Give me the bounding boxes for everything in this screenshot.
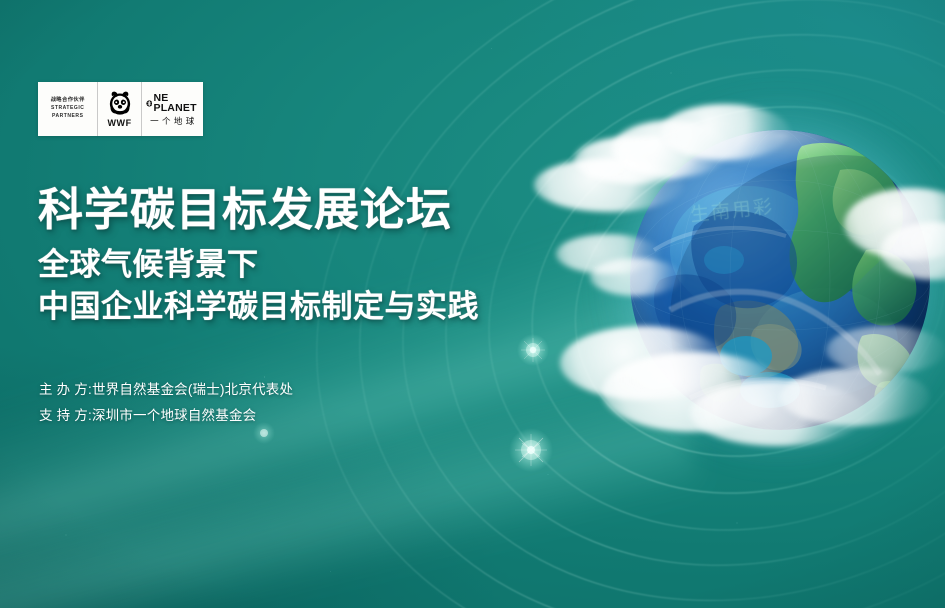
- poster-canvas: 生南用彩 战略合作伙伴 STRATEGIC PARTNERS: [0, 0, 945, 608]
- background-vignette: [0, 0, 945, 608]
